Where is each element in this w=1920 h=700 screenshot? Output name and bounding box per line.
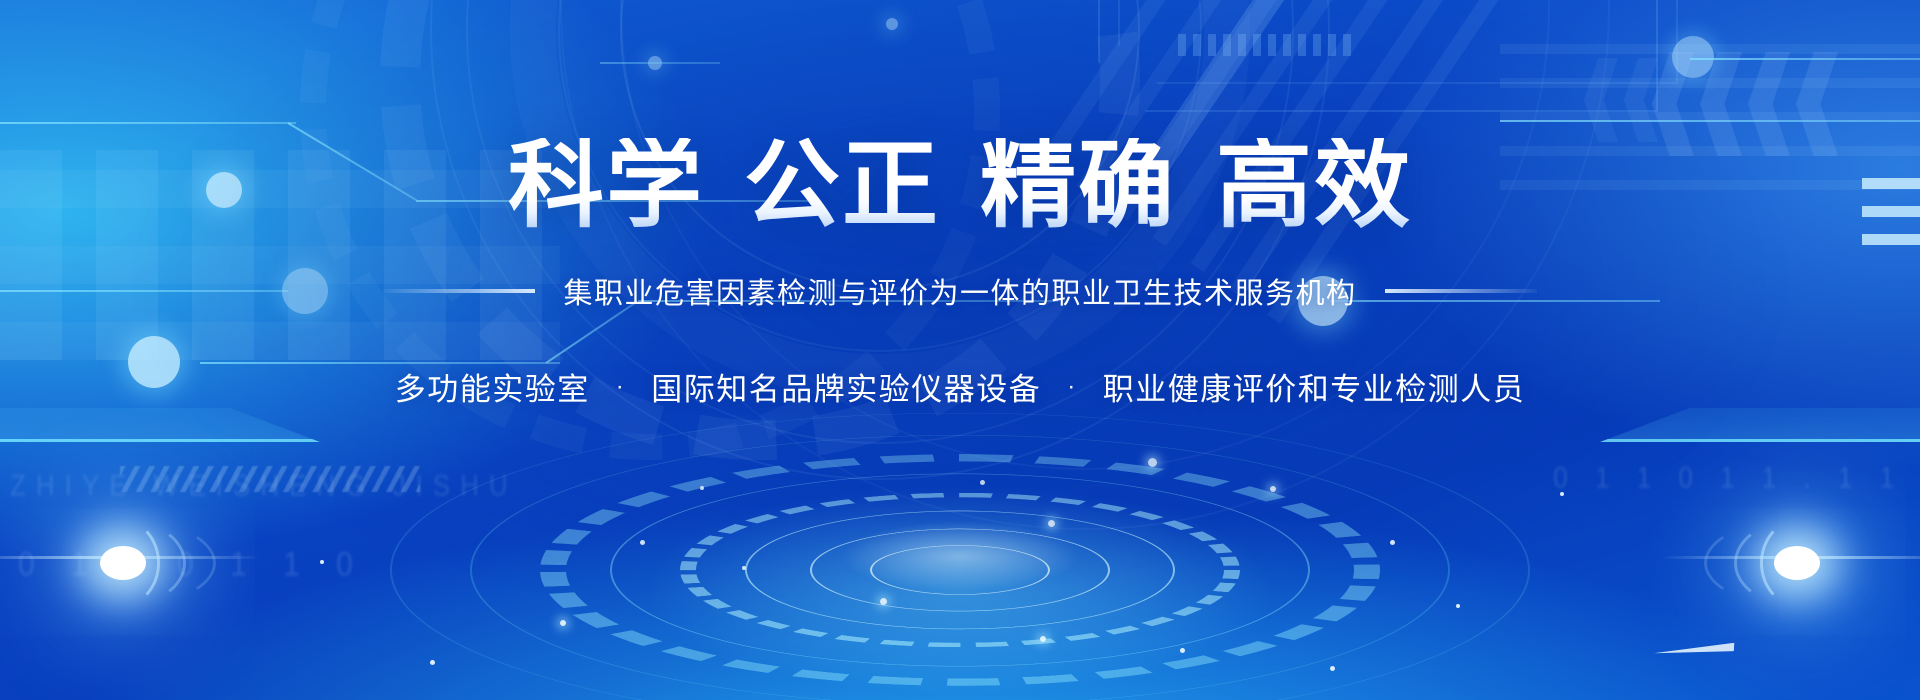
banner-subtitle-row: 集职业危害因素检测与评价为一体的职业卫生技术服务机构 [383, 270, 1536, 312]
feature-item-2: 国际知名品牌实验仪器设备 [651, 364, 1041, 409]
tech-banner: ZHIYE WEISHENG JISHU 0 1 0 0 1 1 0 0 1 1… [0, 0, 1920, 700]
feature-separator: · [616, 373, 626, 401]
headline-word-4: 高效 [1216, 132, 1412, 239]
headline-word-2: 公正 [744, 132, 940, 239]
feature-item-3: 职业健康评价和专业检测人员 [1103, 364, 1526, 409]
banner-feature-row: 多功能实验室 · 国际知名品牌实验仪器设备 · 职业健康评价和专业检测人员 [395, 364, 1526, 409]
feature-item-1: 多功能实验室 [395, 364, 590, 409]
headline-word-1: 科学 [508, 132, 704, 239]
subtitle-rule-left [383, 289, 535, 293]
headline-word-3: 精确 [980, 132, 1176, 239]
banner-content: 科学公正精确高效 集职业危害因素检测与评价为一体的职业卫生技术服务机构 多功能实… [0, 0, 1920, 700]
subtitle-rule-right [1385, 289, 1537, 293]
feature-separator: · [1067, 373, 1077, 401]
banner-headline: 科学公正精确高效 [508, 138, 1412, 234]
banner-subtitle: 集职业危害因素检测与评价为一体的职业卫生技术服务机构 [563, 270, 1356, 312]
